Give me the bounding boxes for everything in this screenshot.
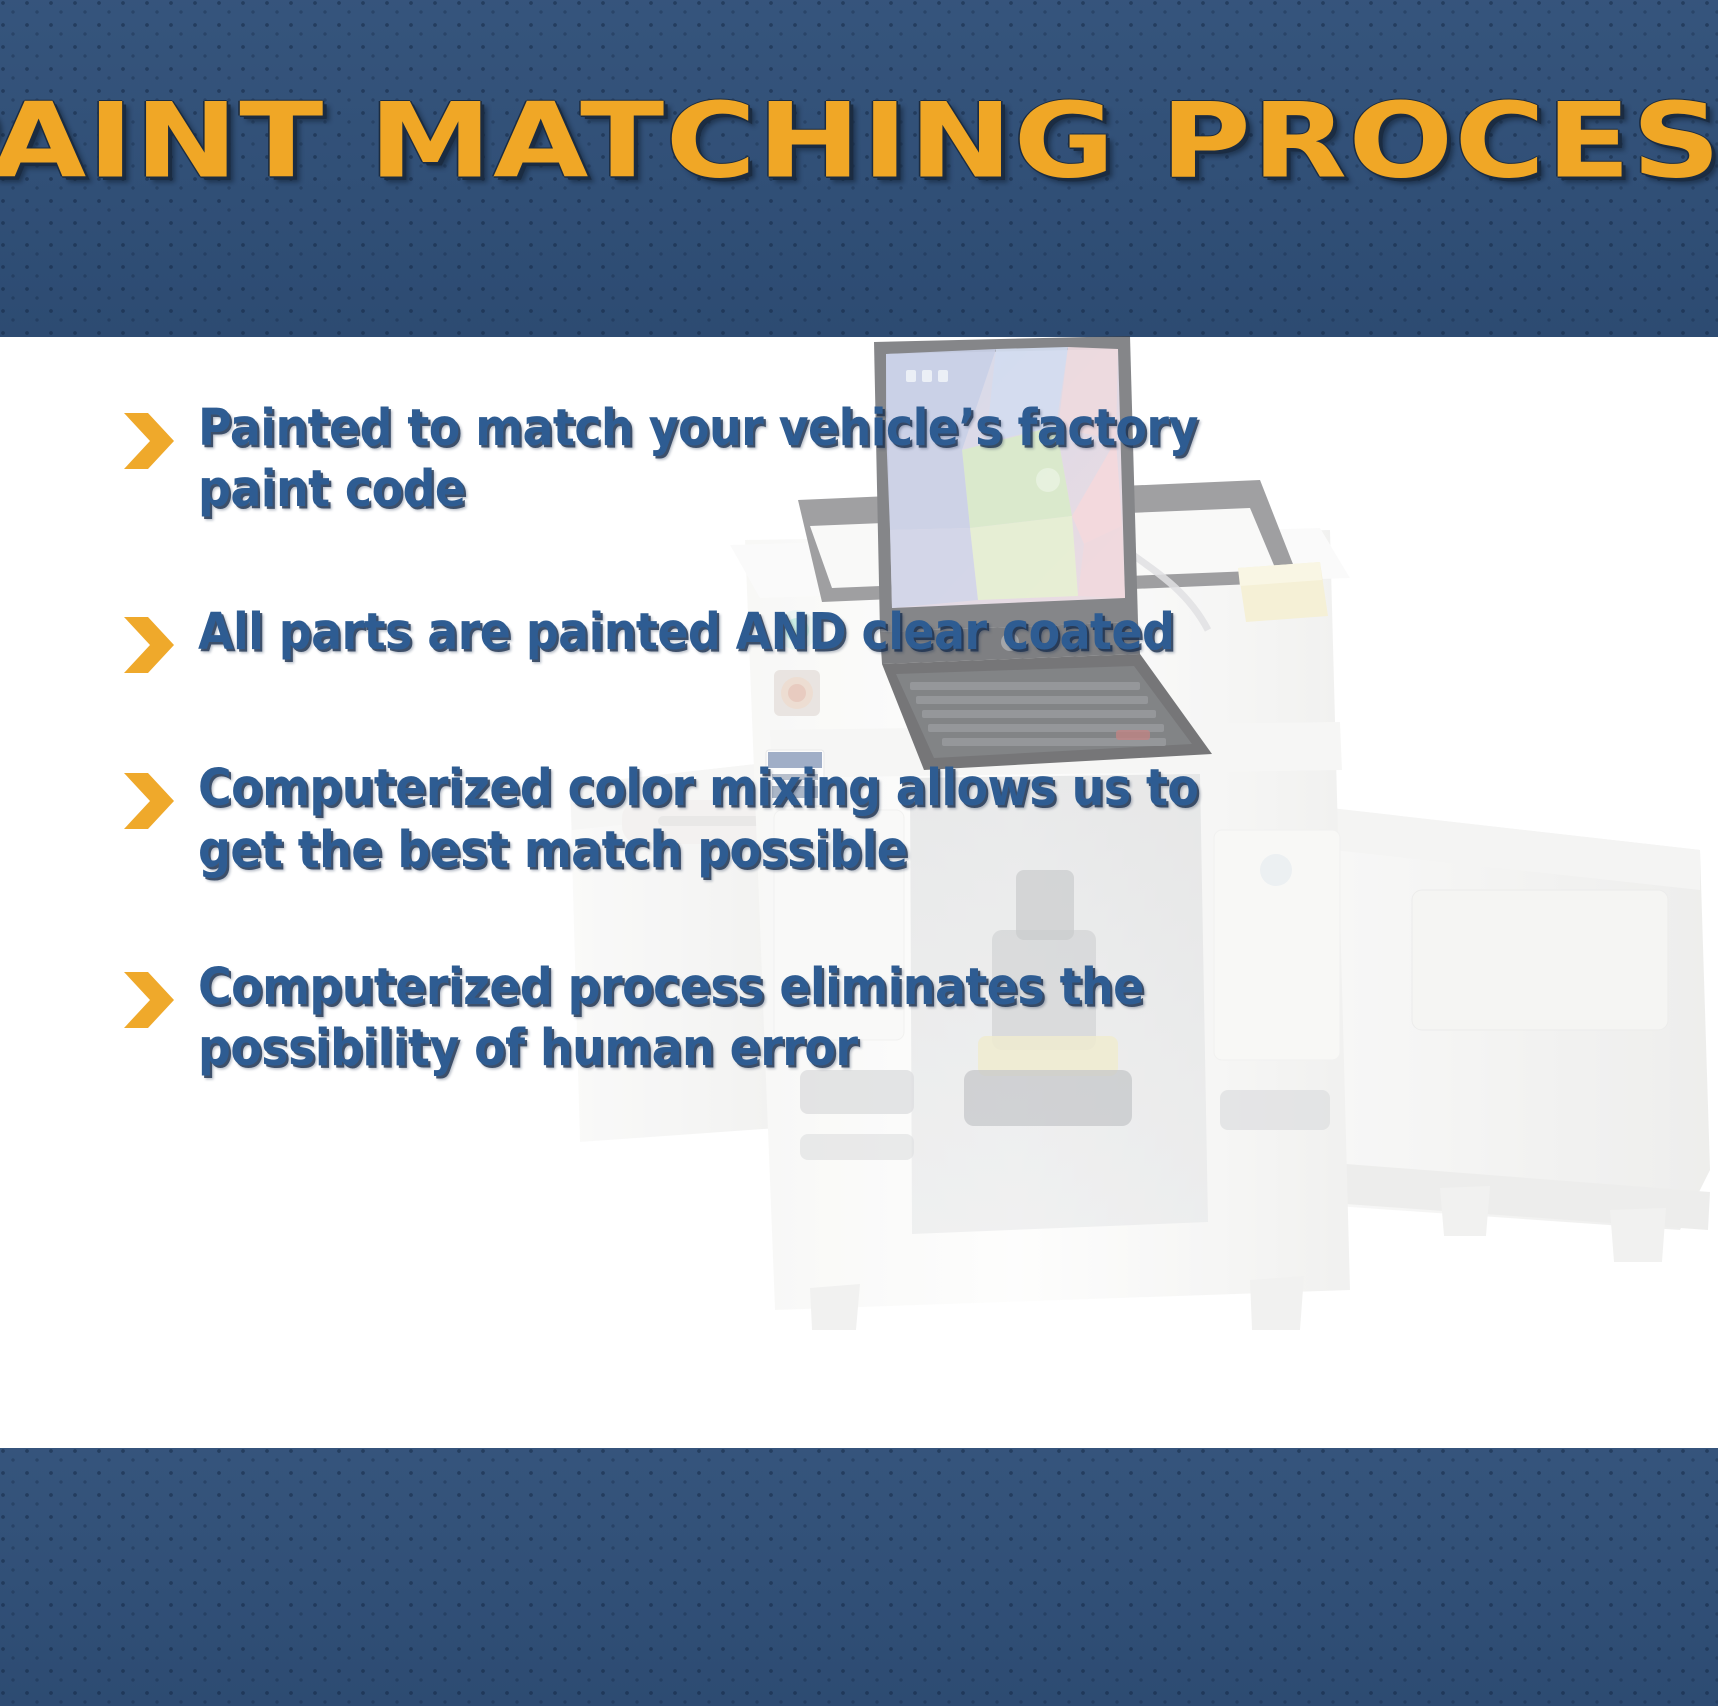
list-item: Painted to match your vehicle’s factory … [120, 398, 1320, 520]
page-title: Paint Matching Process [0, 90, 1718, 193]
chevron-right-icon [120, 410, 178, 472]
footer-band [0, 1448, 1718, 1706]
list-item: Computerized color mixing allows us to g… [120, 758, 1320, 880]
list-item: All parts are painted AND clear coated [120, 602, 1320, 676]
list-item-text: All parts are painted AND clear coated [198, 602, 1208, 663]
chevron-right-icon [120, 969, 178, 1031]
bullet-list: Painted to match your vehicle’s factory … [120, 398, 1320, 1079]
list-item-text: Computerized color mixing allows us to g… [198, 758, 1208, 880]
list-item-text: Painted to match your vehicle’s factory … [198, 398, 1208, 520]
chevron-right-icon [120, 614, 178, 676]
list-item-text: Computerized process eliminates the poss… [198, 957, 1208, 1079]
list-item: Computerized process eliminates the poss… [120, 957, 1320, 1079]
chevron-right-icon [120, 770, 178, 832]
page-title-container: Paint Matching Process [0, 96, 1718, 188]
slide-root: Paint Matching Process [0, 0, 1718, 1706]
